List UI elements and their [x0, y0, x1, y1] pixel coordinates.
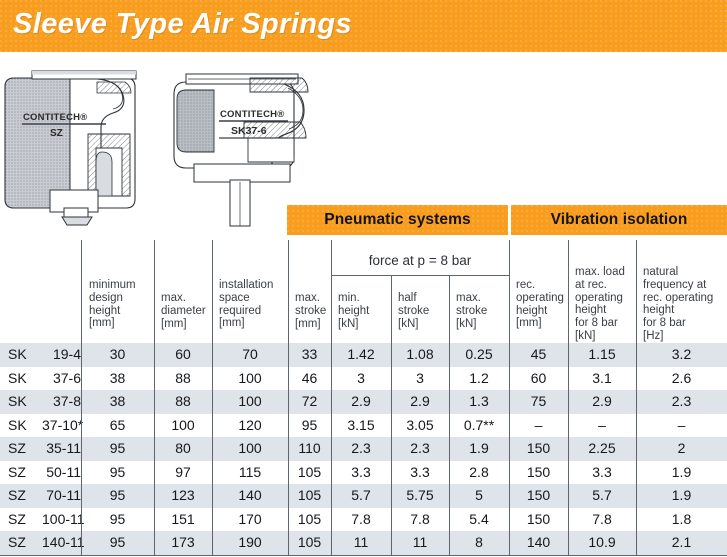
- row-rule: [288, 484, 289, 508]
- row-rule: [331, 437, 332, 461]
- cell-force_half_stroke: 7.8: [391, 508, 449, 532]
- row-rule: [288, 508, 289, 532]
- row-rule: [212, 484, 213, 508]
- row-rule: [81, 484, 82, 508]
- row-rule: [81, 437, 82, 461]
- cell-force_min_height: 3.15: [331, 414, 391, 438]
- cell-nat_freq: 2.6: [636, 367, 727, 391]
- sk-cutaway-svg: CONTITECH® SK37-6: [172, 60, 332, 228]
- row-rule: [636, 390, 637, 414]
- header-rule-8: [509, 240, 510, 343]
- cell-nat_freq: 2.3: [636, 390, 727, 414]
- row-rule: [391, 531, 392, 555]
- sz-type-text: SZ: [50, 128, 63, 139]
- header-max-diameter: max. diameter [mm]: [161, 292, 211, 330]
- cell-max_diameter: 100: [154, 414, 212, 438]
- header-max-stroke-mm: max. stroke [mm]: [295, 292, 331, 330]
- cell-max_load: 10.9: [568, 531, 636, 555]
- cell-force_min_height: 7.8: [331, 508, 391, 532]
- cell-force_max_stroke: 8: [449, 531, 509, 555]
- row-rule: [212, 531, 213, 555]
- cell-max_diameter: 60: [154, 343, 212, 367]
- cell-force_min_height: 3.3: [331, 461, 391, 485]
- cell-force_max_stroke: 0.7**: [449, 414, 509, 438]
- cell-force_half_stroke: 2.3: [391, 437, 449, 461]
- cell-max_stroke_mm: 33: [288, 343, 331, 367]
- table-row: SZ35-1195801001102.32.31.91502.252: [0, 437, 727, 461]
- force-span-underline: [331, 275, 509, 276]
- cell-max_load: 5.7: [568, 484, 636, 508]
- cell-max_stroke_mm: 105: [288, 484, 331, 508]
- row-rule: [81, 508, 82, 532]
- cell-nat_freq: 1.8: [636, 508, 727, 532]
- cell-max_diameter: 88: [154, 367, 212, 391]
- row-rule: [154, 508, 155, 532]
- cell-rec_op_height: –: [509, 414, 568, 438]
- cell-install_space: 115: [212, 461, 288, 485]
- row-rule: [509, 343, 510, 367]
- cell-rec_op_height: 150: [509, 437, 568, 461]
- row-rule: [154, 343, 155, 367]
- row-rule: [154, 461, 155, 485]
- cell-nat_freq: 2.1: [636, 531, 727, 555]
- row-rule: [636, 367, 637, 391]
- row-rule: [331, 390, 332, 414]
- specification-table: Pneumatic systems Vibration isolation fo…: [0, 205, 727, 555]
- cell-force_half_stroke: 2.9: [391, 390, 449, 414]
- cell-force_half_stroke: 3: [391, 367, 449, 391]
- header-rule-7: [449, 275, 450, 343]
- cell-force_half_stroke: 1.08: [391, 343, 449, 367]
- cell-rec_op_height: 140: [509, 531, 568, 555]
- cell-max_diameter: 80: [154, 437, 212, 461]
- row-rule: [154, 414, 155, 438]
- row-rule: [288, 437, 289, 461]
- cell-max_load: 1.15: [568, 343, 636, 367]
- row-rule: [288, 390, 289, 414]
- row-rule: [288, 367, 289, 391]
- sk-air-spring-cutaway: CONTITECH® SK37-6: [172, 60, 332, 228]
- cell-nat_freq: 1.9: [636, 484, 727, 508]
- row-rule: [331, 414, 332, 438]
- row-rule: [331, 367, 332, 391]
- row-rule: [154, 484, 155, 508]
- header-rule-2: [154, 240, 155, 343]
- row-rule: [568, 343, 569, 367]
- row-rule: [509, 461, 510, 485]
- cell-min_design_height: 65: [81, 414, 154, 438]
- cell-max_load: –: [568, 414, 636, 438]
- row-rule: [81, 461, 82, 485]
- cell-max_stroke_mm: 105: [288, 461, 331, 485]
- row-rule: [509, 437, 510, 461]
- group-header-pneumatic-systems: Pneumatic systems: [287, 205, 508, 235]
- table-group-header-row: Pneumatic systems Vibration isolation: [0, 205, 727, 235]
- row-rule: [331, 484, 332, 508]
- row-rule: [154, 531, 155, 555]
- row-rule: [154, 367, 155, 391]
- table-row: SZ50-1195971151053.33.32.81503.31.9: [0, 461, 727, 485]
- header-rule-6: [391, 275, 392, 343]
- row-rule: [636, 414, 637, 438]
- row-rule: [636, 484, 637, 508]
- table-row: SK37-83888100722.92.91.3752.92.3: [0, 390, 727, 414]
- row-rule: [391, 367, 392, 391]
- sz-air-spring-cutaway: CONTITECH® SZ: [2, 60, 182, 228]
- table-column-header-row: force at p = 8 bar minimum design height…: [0, 235, 727, 343]
- cell-max_diameter: 88: [154, 390, 212, 414]
- cell-force_max_stroke: 1.2: [449, 367, 509, 391]
- row-rule: [81, 390, 82, 414]
- row-rule: [212, 390, 213, 414]
- cell-min_design_height: 95: [81, 508, 154, 532]
- cell-force_min_height: 2.3: [331, 437, 391, 461]
- row-rule: [154, 437, 155, 461]
- cell-nat_freq: –: [636, 414, 727, 438]
- cell-install_space: 70: [212, 343, 288, 367]
- cell-min_design_height: 30: [81, 343, 154, 367]
- page-title: Sleeve Type Air Springs: [13, 8, 352, 41]
- row-rule: [391, 508, 392, 532]
- header-natural-frequency-at-rec-operating-height: natural frequency at rec. operating heig…: [643, 266, 727, 343]
- header-force-max-stroke: max. stroke [kN]: [456, 292, 506, 330]
- row-rule: [568, 484, 569, 508]
- table-row: SK37-6388810046331.2603.12.6: [0, 367, 727, 391]
- cell-max_diameter: 97: [154, 461, 212, 485]
- cell-rec_op_height: 60: [509, 367, 568, 391]
- header-force-at-8-bar: force at p = 8 bar: [331, 253, 509, 268]
- cell-install_space: 120: [212, 414, 288, 438]
- row-rule: [636, 508, 637, 532]
- row-rule: [509, 367, 510, 391]
- header-rule-3: [212, 240, 213, 343]
- row-rule: [568, 437, 569, 461]
- cell-force_max_stroke: 2.8: [449, 461, 509, 485]
- row-rule: [449, 461, 450, 485]
- header-minimum-design-height: minimum design height [mm]: [89, 279, 151, 330]
- cell-force_half_stroke: 3.05: [391, 414, 449, 438]
- cell-min_design_height: 95: [81, 461, 154, 485]
- row-rule: [331, 508, 332, 532]
- row-rule: [391, 343, 392, 367]
- cell-force_min_height: 11: [331, 531, 391, 555]
- row-rule: [509, 484, 510, 508]
- group-header-vibration-isolation: Vibration isolation: [511, 205, 727, 235]
- row-rule: [449, 343, 450, 367]
- row-rule: [568, 461, 569, 485]
- cell-force_min_height: 3: [331, 367, 391, 391]
- header-max-load-at-rec-operating-height: max. load at rec. operating height for 8…: [575, 266, 637, 343]
- row-rule: [449, 484, 450, 508]
- cell-install_space: 100: [212, 437, 288, 461]
- cell-rec_op_height: 150: [509, 461, 568, 485]
- cell-force_max_stroke: 5.4: [449, 508, 509, 532]
- cell-max_stroke_mm: 105: [288, 508, 331, 532]
- cell-force_min_height: 5.7: [331, 484, 391, 508]
- header-force-half-stroke: half stroke [kN]: [398, 292, 448, 330]
- cell-nat_freq: 1.9: [636, 461, 727, 485]
- row-rule: [449, 508, 450, 532]
- product-illustrations: CONTITECH® SZ: [0, 52, 340, 227]
- cell-max_load: 2.9: [568, 390, 636, 414]
- cell-max_stroke_mm: 46: [288, 367, 331, 391]
- table-row: SZ100-11951511701057.87.85.41507.81.8: [0, 508, 727, 532]
- cell-rec_op_height: 75: [509, 390, 568, 414]
- cell-install_space: 190: [212, 531, 288, 555]
- sk-type-text: SK37-6: [231, 125, 267, 137]
- cell-max_load: 3.1: [568, 367, 636, 391]
- cell-max_stroke_mm: 72: [288, 390, 331, 414]
- row-rule: [331, 461, 332, 485]
- cell-force_min_height: 2.9: [331, 390, 391, 414]
- row-rule: [568, 531, 569, 555]
- cell-rec_op_height: 150: [509, 484, 568, 508]
- row-rule: [81, 531, 82, 555]
- cell-nat_freq: 3.2: [636, 343, 727, 367]
- row-rule: [212, 461, 213, 485]
- cell-max_load: 7.8: [568, 508, 636, 532]
- cell-force_max_stroke: 1.9: [449, 437, 509, 461]
- table-bottom-rule: [0, 555, 727, 556]
- header-force-min-height: min. height [kN]: [338, 292, 390, 330]
- cell-install_space: 100: [212, 390, 288, 414]
- row-rule: [81, 367, 82, 391]
- row-rule: [212, 437, 213, 461]
- row-rule: [449, 437, 450, 461]
- row-rule: [449, 414, 450, 438]
- header-installation-space-required: installation space required [mm]: [219, 279, 287, 330]
- cell-force_min_height: 1.42: [331, 343, 391, 367]
- cell-force_half_stroke: 5.75: [391, 484, 449, 508]
- row-rule: [509, 531, 510, 555]
- cell-min_design_height: 38: [81, 367, 154, 391]
- cell-max_load: 3.3: [568, 461, 636, 485]
- row-rule: [81, 414, 82, 438]
- cell-install_space: 140: [212, 484, 288, 508]
- table-body: SK19-4306070331.421.080.25451.153.2SK37-…: [0, 343, 727, 555]
- row-rule: [636, 437, 637, 461]
- row-rule: [391, 390, 392, 414]
- row-rule: [449, 390, 450, 414]
- cell-min_design_height: 38: [81, 390, 154, 414]
- row-rule: [212, 367, 213, 391]
- row-rule: [331, 343, 332, 367]
- cell-force_max_stroke: 1.3: [449, 390, 509, 414]
- row-rule: [288, 531, 289, 555]
- cell-force_max_stroke: 5: [449, 484, 509, 508]
- row-rule: [636, 343, 637, 367]
- cell-max_diameter: 173: [154, 531, 212, 555]
- cell-install_space: 100: [212, 367, 288, 391]
- cell-max_load: 2.25: [568, 437, 636, 461]
- cell-max_stroke_mm: 105: [288, 531, 331, 555]
- cell-max_stroke_mm: 95: [288, 414, 331, 438]
- row-rule: [391, 437, 392, 461]
- cell-max_diameter: 123: [154, 484, 212, 508]
- row-rule: [568, 508, 569, 532]
- cell-nat_freq: 2: [636, 437, 727, 461]
- row-rule: [509, 508, 510, 532]
- table-row: SK19-4306070331.421.080.25451.153.2: [0, 343, 727, 367]
- cell-rec_op_height: 150: [509, 508, 568, 532]
- cell-min_design_height: 95: [81, 484, 154, 508]
- header-rule-1: [81, 240, 82, 343]
- cell-min_design_height: 95: [81, 437, 154, 461]
- row-rule: [391, 461, 392, 485]
- cell-force_half_stroke: 3.3: [391, 461, 449, 485]
- table-row: SZ140-11951731901051111814010.92.1: [0, 531, 727, 555]
- row-rule: [636, 461, 637, 485]
- table-row: SZ70-11951231401055.75.7551505.71.9: [0, 484, 727, 508]
- row-rule: [212, 343, 213, 367]
- sk-brand-text: CONTITECH®: [220, 109, 284, 120]
- row-rule: [212, 508, 213, 532]
- row-rule: [509, 390, 510, 414]
- row-rule: [509, 414, 510, 438]
- row-rule: [391, 484, 392, 508]
- row-rule: [288, 414, 289, 438]
- row-rule: [391, 414, 392, 438]
- table-row: SK37-10*65100120953.153.050.7**–––: [0, 414, 727, 438]
- row-rule: [568, 390, 569, 414]
- cell-max_stroke_mm: 110: [288, 437, 331, 461]
- row-rule: [154, 390, 155, 414]
- cell-rec_op_height: 45: [509, 343, 568, 367]
- row-rule: [568, 414, 569, 438]
- cell-force_max_stroke: 0.25: [449, 343, 509, 367]
- row-rule: [288, 461, 289, 485]
- cell-min_design_height: 95: [81, 531, 154, 555]
- header-rec-operating-height: rec. operating height [mm]: [516, 279, 570, 330]
- row-rule: [449, 531, 450, 555]
- row-rule: [449, 367, 450, 391]
- cell-install_space: 170: [212, 508, 288, 532]
- row-rule: [568, 367, 569, 391]
- row-rule: [636, 531, 637, 555]
- cell-max_diameter: 151: [154, 508, 212, 532]
- row-rule: [288, 343, 289, 367]
- sz-cutaway-svg: CONTITECH® SZ: [2, 60, 182, 228]
- row-rule: [212, 414, 213, 438]
- cell-force_half_stroke: 11: [391, 531, 449, 555]
- row-rule: [331, 531, 332, 555]
- header-rule-4: [288, 240, 289, 343]
- page-header-band: Sleeve Type Air Springs: [0, 0, 727, 52]
- row-rule: [81, 343, 82, 367]
- sz-brand-text: CONTITECH®: [23, 112, 87, 123]
